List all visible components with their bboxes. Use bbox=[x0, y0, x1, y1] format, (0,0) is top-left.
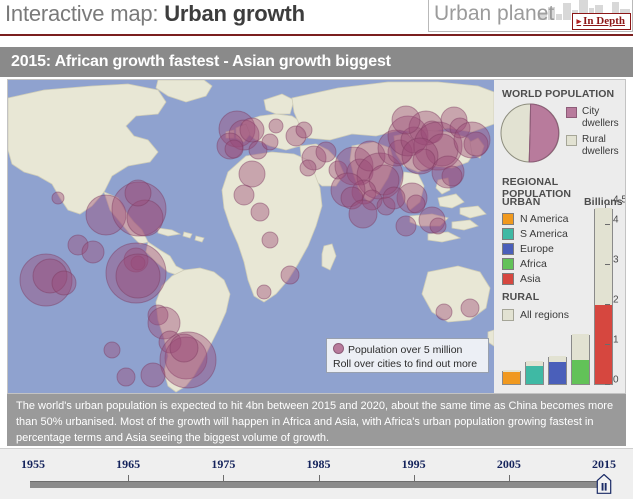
world-population-heading: WORLD POPULATION bbox=[502, 88, 614, 100]
bar-segment-urban bbox=[572, 360, 589, 384]
city-dwellers-swatch bbox=[566, 107, 577, 118]
brand-box: Urban planet ▸In Depth bbox=[428, 0, 633, 32]
page-title-strong: Urban growth bbox=[164, 1, 305, 26]
world-population-pie-chart bbox=[500, 103, 560, 163]
timeline-handle[interactable] bbox=[597, 474, 612, 494]
regional-population-bar-chart: 012344.5 bbox=[500, 205, 620, 385]
bar-africa[interactable] bbox=[571, 335, 590, 385]
map-legend-box: Population over 5 million Roll over citi… bbox=[326, 338, 489, 373]
map-legend-line2: Roll over cities to find out more bbox=[333, 358, 483, 372]
pie-legend-item-city: City dwellers bbox=[566, 106, 619, 129]
pie-legend-rural-line1: Rural bbox=[582, 134, 606, 145]
rural-dwellers-swatch bbox=[566, 135, 577, 146]
pie-legend-city-line1: City bbox=[582, 106, 599, 117]
map-stage: Population over 5 million Roll over citi… bbox=[7, 79, 626, 394]
bar-segment-rural bbox=[503, 370, 520, 372]
timeline-tick bbox=[414, 475, 415, 481]
y-tick-label: 4 bbox=[613, 215, 619, 226]
bar-asia[interactable] bbox=[594, 209, 613, 385]
y-tick bbox=[605, 304, 610, 305]
timeline-year-1975[interactable]: 1975 bbox=[211, 457, 235, 472]
caption-text: The world's urban population is expected… bbox=[7, 394, 626, 446]
bar-segment-urban bbox=[503, 372, 520, 384]
y-tick-label: 1 bbox=[613, 335, 619, 346]
y-tick bbox=[605, 344, 610, 345]
triangle-right-icon: ▸ bbox=[577, 16, 582, 26]
y-tick bbox=[605, 224, 610, 225]
bar-segment-urban bbox=[526, 366, 543, 384]
timeline-track[interactable] bbox=[30, 481, 604, 488]
header-divider bbox=[0, 34, 633, 36]
bar-segment-rural bbox=[549, 356, 566, 362]
y-tick bbox=[605, 384, 610, 385]
in-depth-label: In Depth bbox=[583, 15, 625, 27]
in-depth-link[interactable]: ▸In Depth bbox=[572, 13, 631, 30]
timeline-year-1955[interactable]: 1955 bbox=[21, 457, 45, 472]
timeline-year-1965[interactable]: 1965 bbox=[116, 457, 140, 472]
world-map[interactable]: Population over 5 million Roll over citi… bbox=[8, 80, 494, 393]
stats-panel: WORLD POPULATION City dwellers Rural dwe… bbox=[494, 80, 625, 393]
page-header: Interactive map: Urban growth Urban bbox=[0, 0, 633, 33]
timeline-year-1995[interactable]: 1995 bbox=[402, 457, 426, 472]
timeline-tick bbox=[319, 475, 320, 481]
bar-segment-rural bbox=[595, 208, 612, 305]
y-tick-label: 2 bbox=[613, 295, 619, 306]
timeline-year-2005[interactable]: 2005 bbox=[497, 457, 521, 472]
bar-segment-urban bbox=[549, 362, 566, 384]
map-title: 2015: African growth fastest - Asian gro… bbox=[0, 47, 633, 77]
page-title-prefix: Interactive map: bbox=[5, 1, 164, 26]
map-legend-line1: Population over 5 million bbox=[333, 343, 483, 358]
pie-legend-rural-line2: dwellers bbox=[582, 146, 619, 157]
y-tick bbox=[605, 264, 610, 265]
bar-europe[interactable] bbox=[548, 357, 567, 385]
timeline-tick bbox=[509, 475, 510, 481]
pie-legend-city-line2: dwellers bbox=[582, 118, 619, 129]
timeline-year-2015[interactable]: 2015 bbox=[592, 457, 616, 472]
timeline-tick bbox=[128, 475, 129, 481]
y-tick-label: 3 bbox=[613, 255, 619, 266]
bar-n-america[interactable] bbox=[502, 371, 521, 385]
interactive-map-page: Interactive map: Urban growth Urban bbox=[0, 0, 633, 498]
pie-legend: City dwellers Rural dwellers bbox=[566, 106, 619, 162]
page-title: Interactive map: Urban growth bbox=[5, 1, 305, 27]
bar-segment-rural bbox=[526, 361, 543, 366]
pie-legend-item-rural: Rural dwellers bbox=[566, 134, 619, 157]
timeline-slider[interactable]: 1955196519751985199520052015 bbox=[0, 448, 633, 499]
population-dot-icon bbox=[333, 343, 344, 354]
bar-segment-rural bbox=[572, 334, 589, 360]
y-tick bbox=[605, 204, 610, 205]
bar-s-america[interactable] bbox=[525, 362, 544, 385]
brand-label: Urban planet bbox=[434, 2, 554, 26]
timeline-tick bbox=[223, 475, 224, 481]
y-tick-label: 4.5 bbox=[613, 195, 626, 206]
y-tick-label: 0 bbox=[613, 375, 619, 386]
timeline-year-1985[interactable]: 1985 bbox=[307, 457, 331, 472]
